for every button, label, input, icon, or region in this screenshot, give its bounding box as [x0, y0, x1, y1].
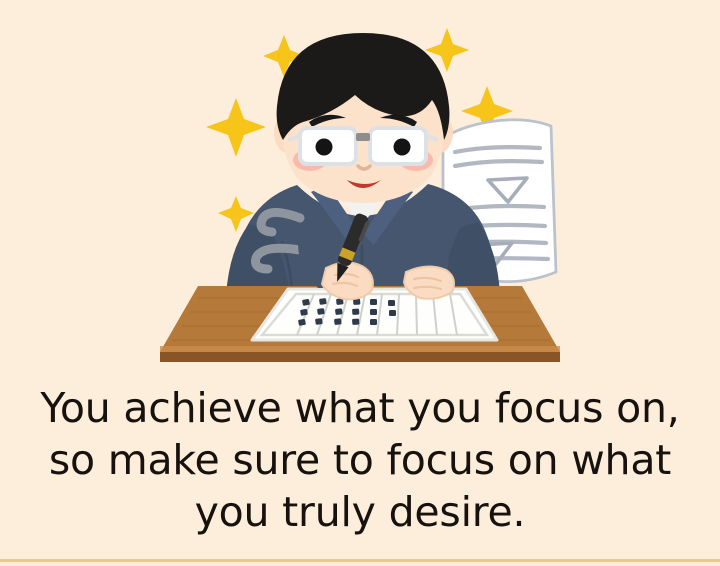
eye-left — [316, 139, 333, 156]
figure-head — [274, 33, 453, 203]
eye-right — [394, 139, 411, 156]
quote-poster: You achieve what you focus on, so make s… — [0, 0, 720, 566]
quote-line-3: you truly desire. — [0, 486, 720, 538]
quote-line-1: You achieve what you focus on, — [0, 382, 720, 434]
glasses-bridge — [356, 133, 370, 141]
quote-line-2: so make sure to focus on what — [0, 434, 720, 486]
quote-text: You achieve what you focus on, so make s… — [0, 382, 720, 538]
desk-front-highlight — [160, 346, 560, 352]
hand-resting — [404, 266, 454, 298]
bottom-strip — [0, 562, 720, 566]
manuscript-paper — [252, 289, 497, 340]
illustration-writer-at-desk — [0, 0, 720, 380]
desk-edge — [160, 352, 560, 362]
